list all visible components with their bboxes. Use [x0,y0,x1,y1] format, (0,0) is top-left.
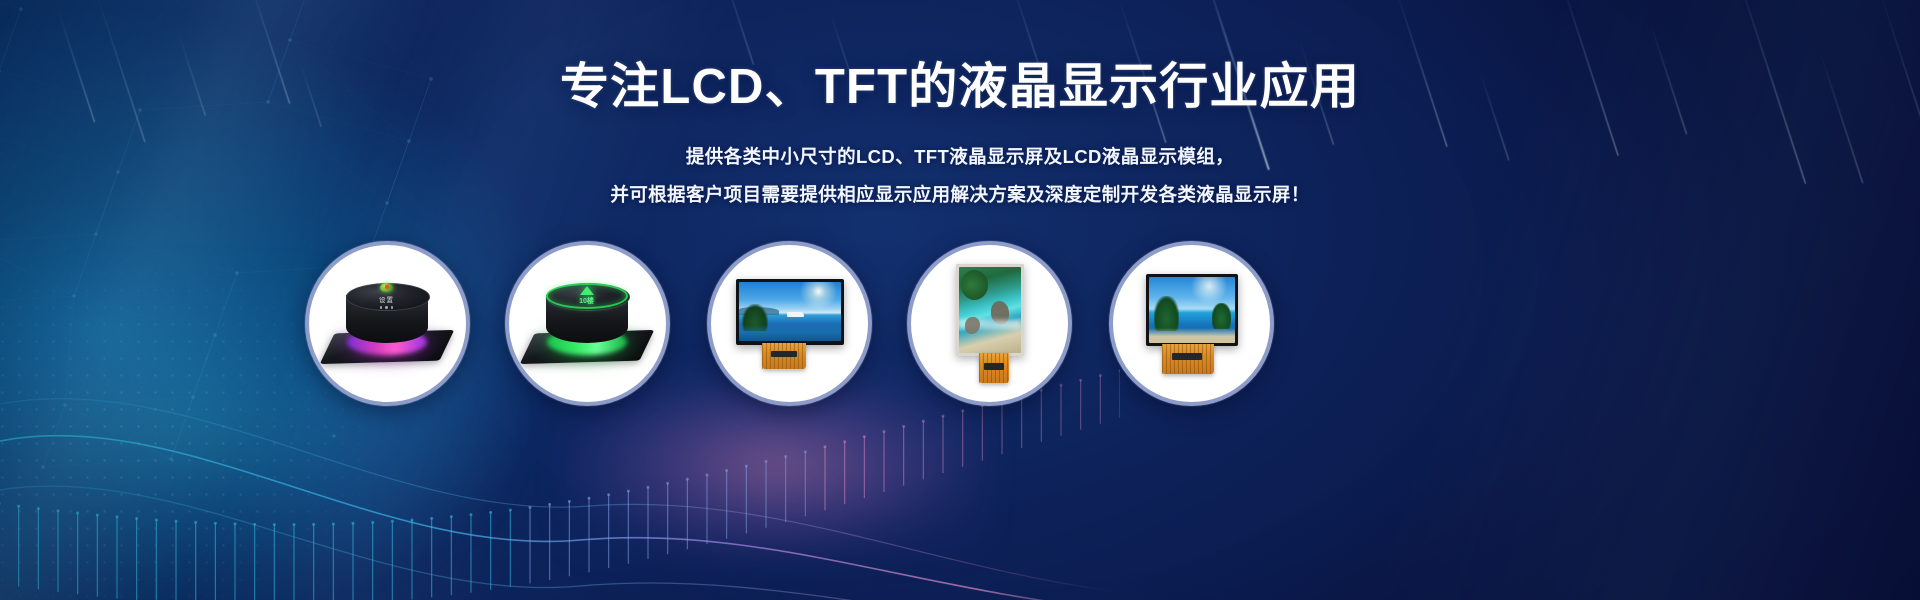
product-circle-lcd-square[interactable] [1109,241,1274,406]
lcd-screen-content [739,282,841,341]
fpc-ribbon-cable [762,343,806,369]
product-circle-lcd-portrait[interactable] [907,241,1072,406]
subtitle-line-2: 并可根据客户项目需要提供相应显示应用解决方案及深度定制开发各类液晶显示屏！ [0,181,1920,207]
subtitle-line-1: 提供各类中小尺寸的LCD、TFT液晶显示屏及LCD液晶显示模组， [0,143,1920,169]
smart-panel-green-image: 10楼 [522,269,654,379]
lcd-bezel [1146,274,1238,346]
lcd-screen-content [959,267,1021,353]
hero-banner: 专注LCD、TFT的液晶显示行业应用 提供各类中小尺寸的LCD、TFT液晶显示屏… [0,0,1920,600]
fpc-ribbon-cable [979,353,1009,383]
fpc-ribbon-cable [1162,344,1214,374]
hero-text-block: 专注LCD、TFT的液晶显示行业应用 提供各类中小尺寸的LCD、TFT液晶显示屏… [0,62,1920,207]
product-circle-smart-speaker-purple[interactable]: 设置 [305,241,470,406]
lcd-square-image [1146,274,1238,374]
product-circle-smart-panel-green[interactable]: 10楼 [505,241,670,406]
smart-speaker-purple-image: 设置 [322,269,454,379]
product-circle-lcd-landscape[interactable] [707,241,872,406]
lcd-portrait-image [956,264,1024,383]
elevator-floor-label: 10楼 [579,296,594,306]
lcd-screen-content [1149,277,1235,343]
page-title: 专注LCD、TFT的液晶显示行业应用 [0,62,1920,114]
leaf-icon [380,283,393,293]
product-circle-row: 设置 10楼 [0,241,1920,401]
up-arrow-icon [580,286,594,295]
lcd-bezel [956,264,1024,356]
speaker-screen-label: 设置 [379,294,394,304]
lcd-landscape-image [736,279,844,369]
lcd-bezel [736,279,844,345]
